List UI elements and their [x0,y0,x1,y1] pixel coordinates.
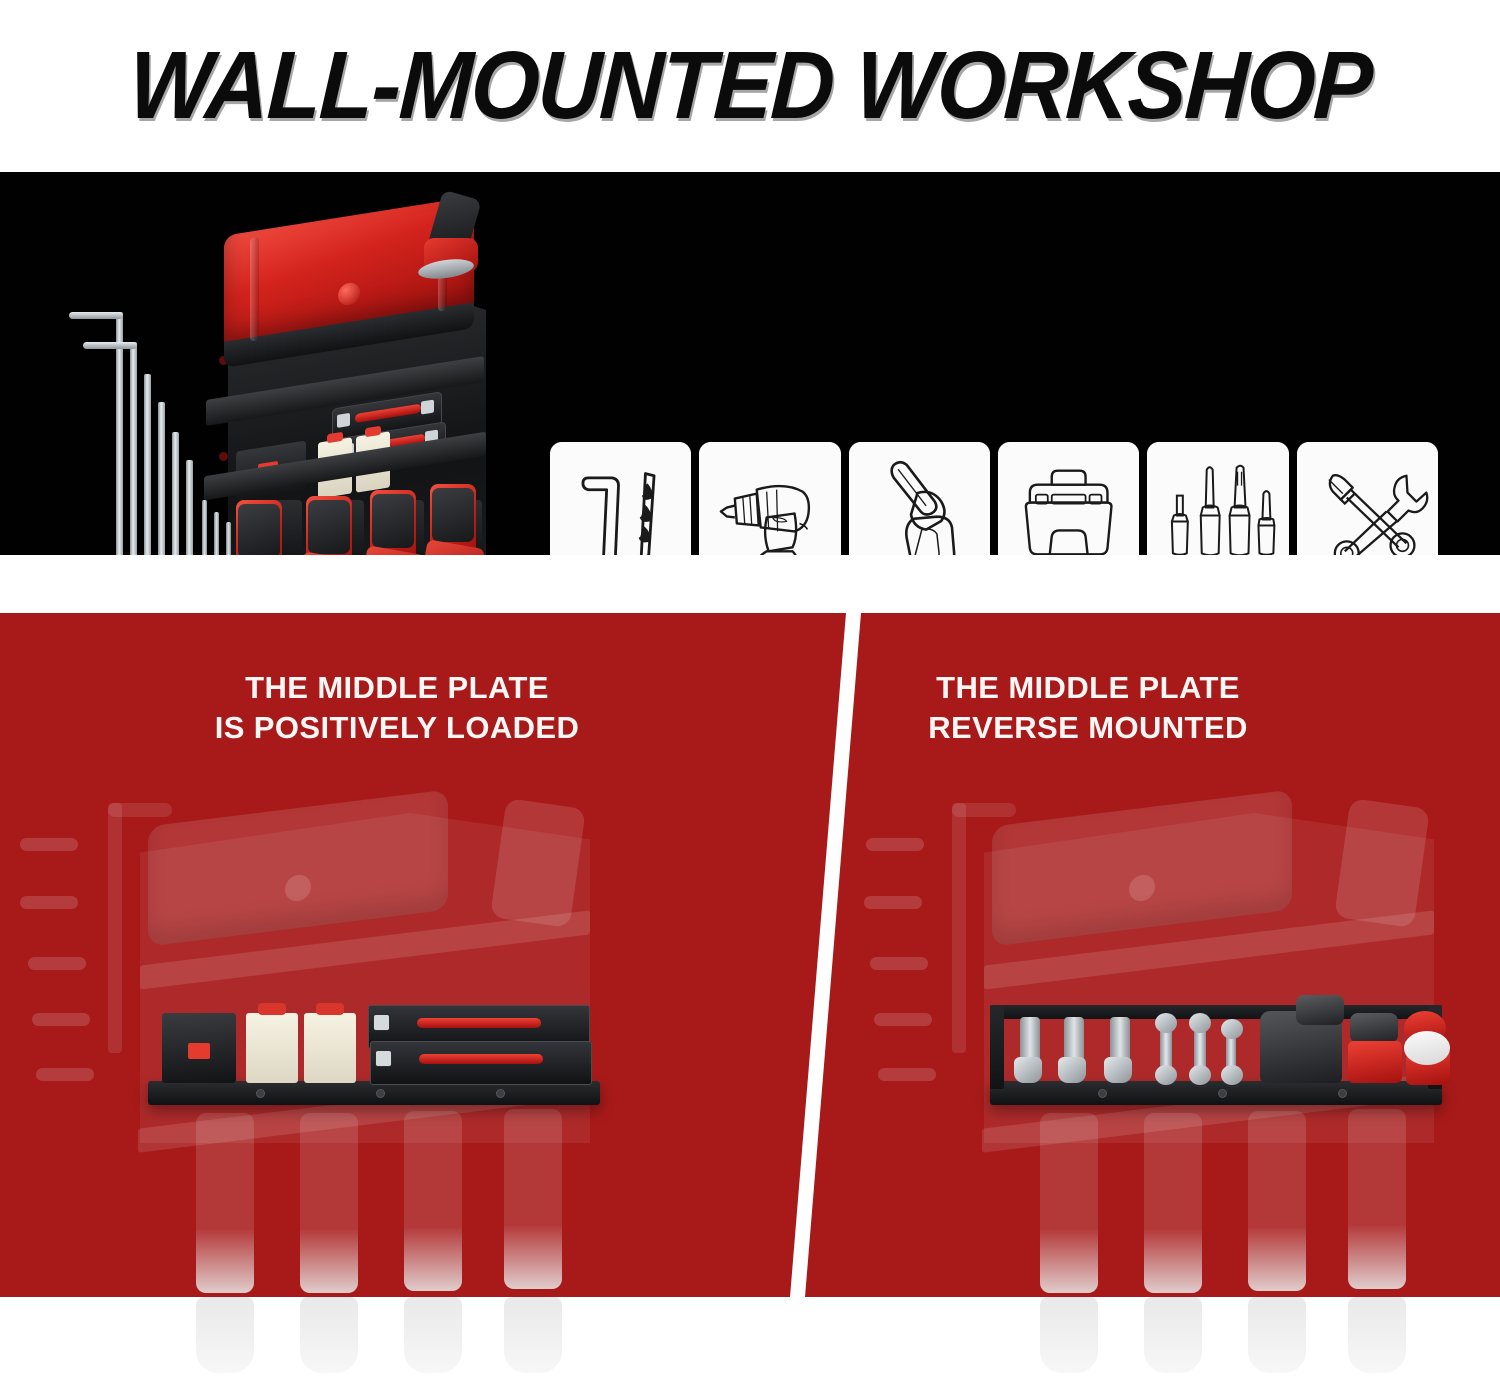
cordless-drill [362,490,424,555]
canister-cap-item [1350,1013,1398,1043]
hex-key [186,460,193,555]
drill-ghost [300,1113,358,1293]
feature-card-electric-drill[interactable]: ELECTRIC DRIL [699,442,840,555]
feature-card-screwdriver[interactable]: SCREWDRIVER [1147,442,1288,555]
hex-key [158,402,165,555]
feature-card-hex-key[interactable]: HEX KEY /DRILL BIT [550,442,691,555]
peg-rail [108,803,122,1053]
feature-card-mini-chainsaw[interactable]: MINI LITHIUM-IONCHAINSAW [849,442,990,555]
adjustable-wrench-item [1020,1017,1040,1075]
tool-box-icon [998,442,1139,555]
peg-rail-top [952,803,1016,817]
feature-card-row: HEX KEY /DRILL BIT ELECTRIC DRIL [550,442,1438,555]
comparison-section: THE MIDDLE PLATE IS POSITIVELY LOADED [0,613,1500,1297]
case-latch [338,282,360,307]
peg-rail [952,803,966,1053]
spanner-item [1160,1025,1172,1073]
drill-ghost [404,1111,462,1291]
drill-ghost [1248,1111,1306,1291]
panel-positively-loaded: THE MIDDLE PLATE IS POSITIVELY LOADED [0,613,846,1297]
page-title: WALL-MOUNTED WORKSHOP [127,38,1373,134]
cordless-drill [228,500,290,555]
peg [866,838,924,851]
peg-rail-top [108,803,172,817]
plate-screw [1338,1089,1347,1098]
tape-roll-item [1348,1041,1402,1083]
plate-screw [1218,1089,1227,1098]
drill-motor [432,488,474,542]
mini-chainsaw-icon [849,442,990,555]
adjustable-wrench-item [1110,1017,1130,1075]
drill-bit [214,512,219,555]
drill-motor [308,500,350,554]
plate-screw [496,1089,505,1098]
drill-tip-overflow [404,1297,462,1373]
adjustable-wrench-item [1064,1017,1084,1075]
hex-key [130,342,137,555]
title-bar: WALL-MOUNTED WORKSHOP [0,0,1500,172]
hex-key [144,374,151,555]
drill-bit [202,500,207,555]
drill-ghost [1144,1113,1202,1293]
drill-tip-overflow [196,1297,254,1373]
drill-ghost [1040,1113,1098,1293]
drill-ghost [504,1109,562,1289]
feature-card-tools-boxes[interactable]: TOOLS BOXES [998,442,1139,555]
cordless-drill [298,496,360,555]
ghost-rack-left [0,613,846,1297]
angle-grinder [416,194,490,290]
drill-motor [372,494,414,548]
drill-tip-overflow [1040,1297,1098,1373]
hex-key [172,432,179,555]
white-tape-roll-item [1404,1031,1450,1065]
electric-drill-icon [699,442,840,555]
wrench-icon [1297,442,1438,555]
hero-section: HEX KEY /DRILL BIT ELECTRIC DRIL [0,172,1500,555]
canister-cap-item [1296,995,1344,1025]
battery-pack-item [162,1013,236,1083]
case-rib [250,236,259,341]
peg [870,957,928,970]
middle-plate-reverse [990,1081,1442,1105]
product-render-main [86,182,506,555]
drill-tip-overflow [1348,1297,1406,1373]
bottle-item [246,1013,298,1083]
plate-screw [256,1089,265,1098]
drill-tip-overflow [300,1297,358,1373]
bottle-item [304,1013,356,1083]
drill-ghost [196,1113,254,1293]
peg [878,1068,936,1081]
drill-tip-overflow [1248,1297,1306,1373]
spanner-item [1226,1031,1236,1073]
tray-left-lip [990,1005,1004,1089]
hex-key-drill-bit-icon [550,442,691,555]
grinder-ghost [1334,798,1430,928]
peg [36,1068,94,1081]
cordless-drill [422,484,484,555]
peg [874,1013,932,1026]
screwdriver-icon [1147,442,1288,555]
grinder-ghost [490,798,586,928]
plate-screw [376,1089,385,1098]
feature-card-small-items[interactable]: SMALL ITEMS [1297,442,1438,555]
spanner-item [1194,1025,1206,1073]
peg [28,957,86,970]
drill-ghost [1348,1109,1406,1289]
peg [20,896,78,909]
peg [864,896,922,909]
peg [20,838,78,851]
peg [32,1013,90,1026]
drill-tip-overflow [504,1297,562,1373]
drill-motor [238,504,280,555]
tool-box-item [370,1041,592,1085]
drill-tip-overflow [1144,1297,1202,1373]
plate-screw [1098,1089,1107,1098]
